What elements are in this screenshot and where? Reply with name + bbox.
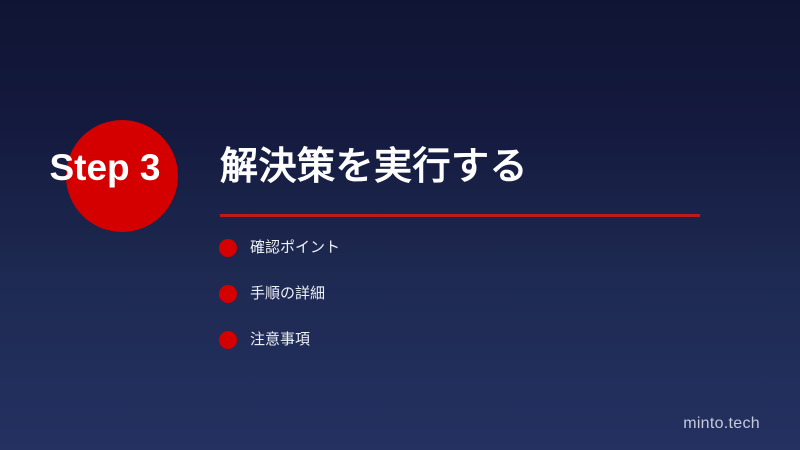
bullet-list: 確認ポイント 手順の詳細 注意事項: [219, 239, 739, 377]
slide-title: 解決策を実行する: [220, 142, 780, 192]
step-badge: Step 3: [0, 120, 220, 235]
list-item: 確認ポイント: [219, 239, 739, 257]
list-item: 手順の詳細: [219, 285, 739, 303]
list-item: 注意事項: [219, 331, 739, 349]
list-item-label: 確認ポイント: [250, 239, 340, 257]
slide-canvas: Step 3 解決策を実行する 確認ポイント 手順の詳細 注意事項 minto.…: [0, 0, 800, 450]
list-item-label: 手順の詳細: [250, 285, 325, 303]
title-underline-rule: [220, 214, 700, 217]
red-dot-icon: [219, 285, 237, 303]
red-dot-icon: [219, 239, 237, 257]
list-item-label: 注意事項: [250, 331, 310, 349]
title-block: 解決策を実行する: [220, 142, 780, 217]
step-number-label: Step 3: [0, 146, 210, 190]
brand-watermark: minto.tech: [683, 415, 760, 433]
red-dot-icon: [219, 331, 237, 349]
